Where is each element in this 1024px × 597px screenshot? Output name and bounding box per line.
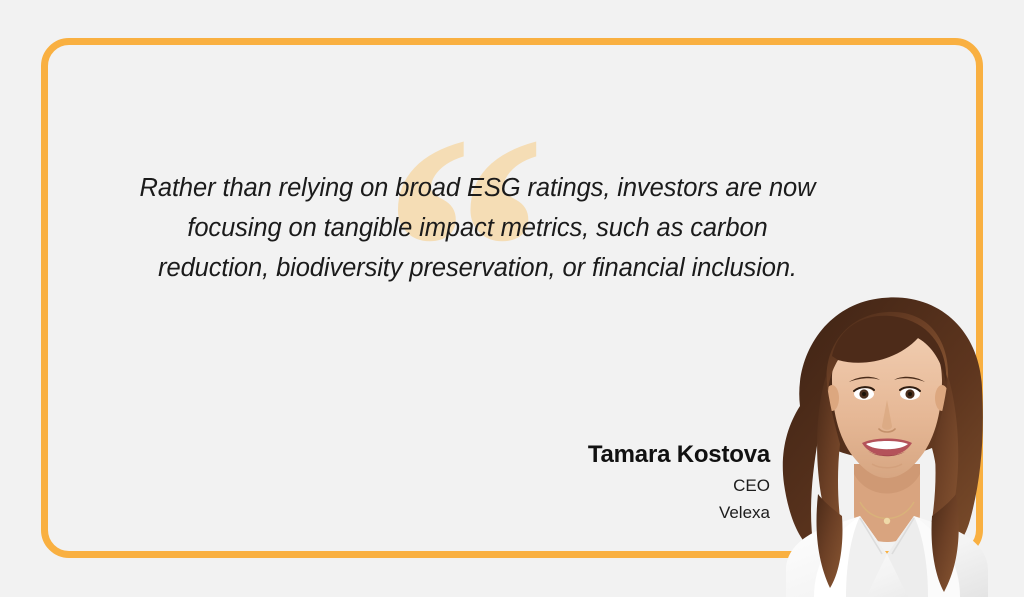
quote-line-3: reduction, biodiversity preservation, or… (90, 248, 865, 288)
attribution-block: Tamara Kostova CEO Velexa (350, 440, 770, 526)
quote-block: Rather than relying on broad ESG ratings… (90, 168, 865, 288)
quote-line-2: focusing on tangible impact metrics, suc… (90, 208, 865, 248)
attribution-company: Velexa (350, 499, 770, 526)
attribution-role: CEO (350, 472, 770, 499)
attribution-name: Tamara Kostova (350, 440, 770, 470)
quote-line-1: Rather than relying on broad ESG ratings… (90, 168, 865, 208)
quote-card-slide: “ Rather than relying on broad ESG ratin… (0, 0, 1024, 597)
portrait-illustration (742, 288, 1024, 597)
portrait-photo (742, 288, 1024, 597)
